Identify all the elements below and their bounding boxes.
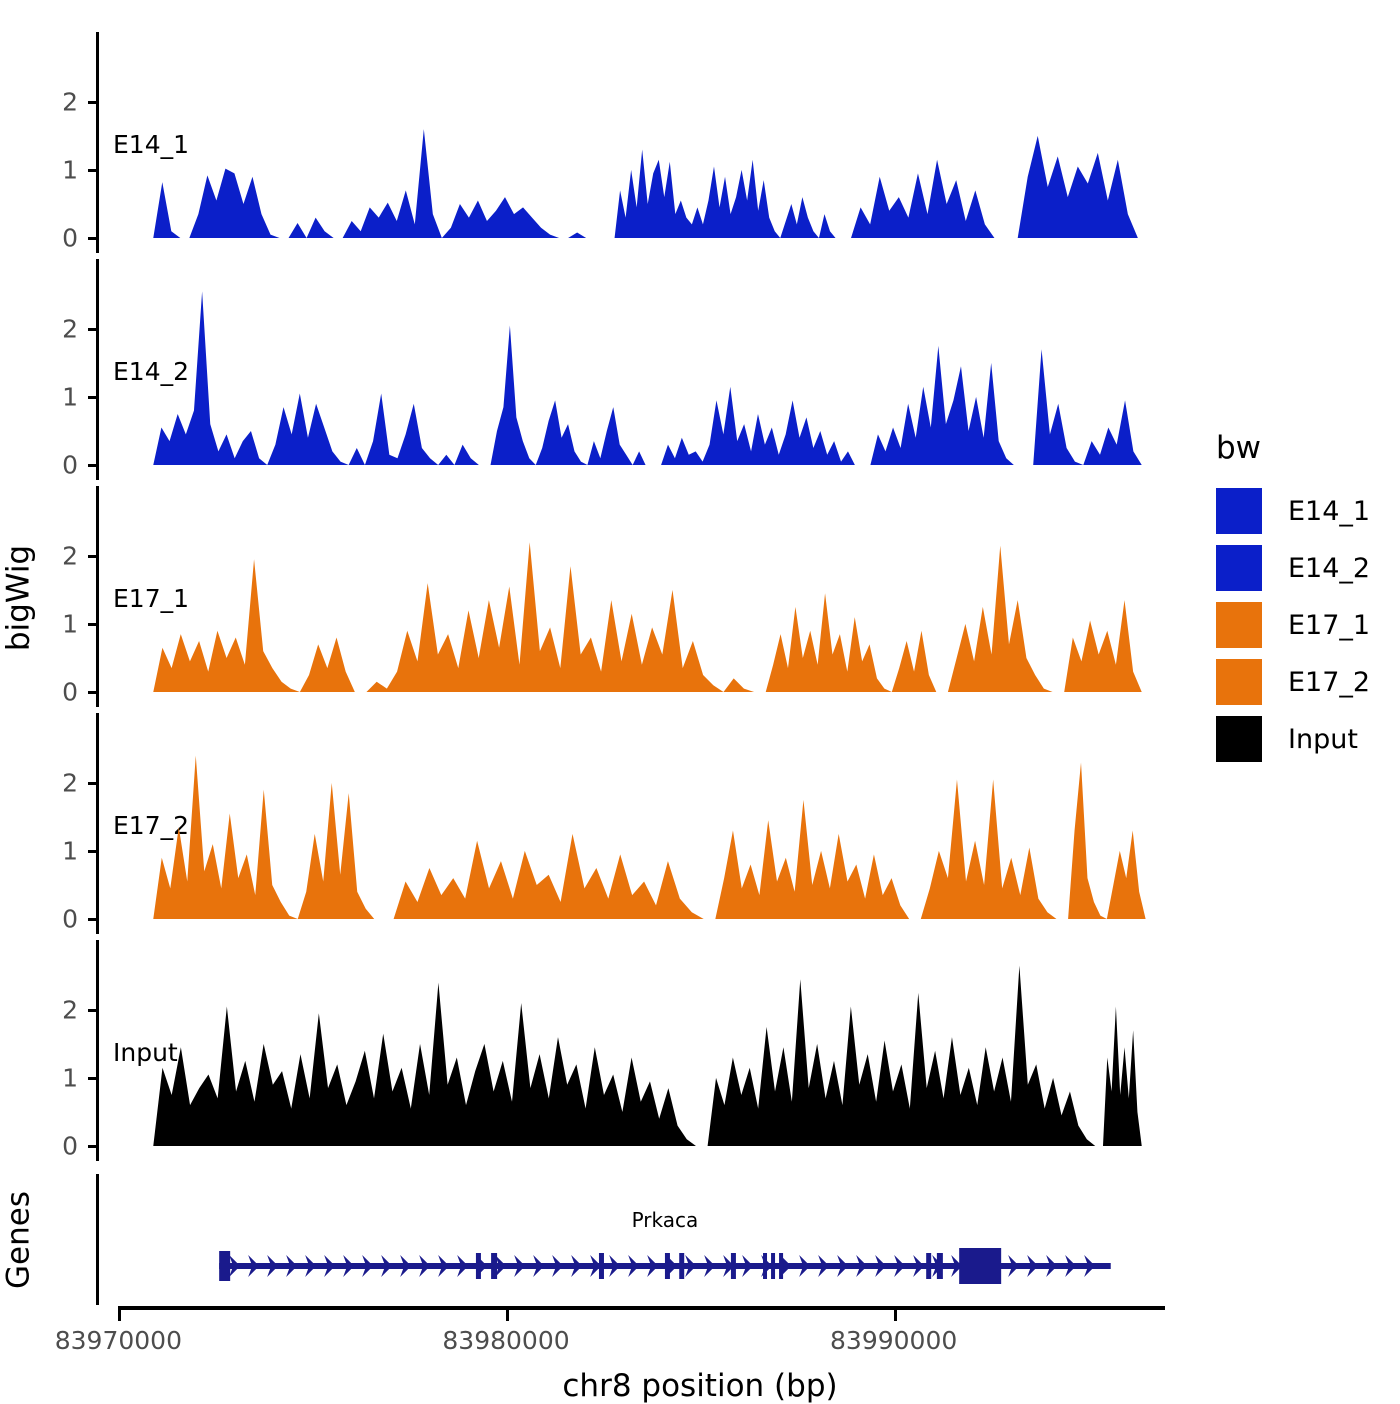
y-tick — [88, 850, 99, 853]
x-tick — [506, 1310, 509, 1321]
y-tick-label: 0 — [18, 678, 78, 707]
y-tick-label: 0 — [18, 451, 78, 480]
signal-segment — [366, 542, 754, 692]
gene-exon-block — [219, 1251, 230, 1281]
y-tick — [88, 555, 99, 558]
track-panel-input: 012Input — [0, 940, 1400, 1167]
signal-segment — [1033, 349, 1142, 465]
y-tick — [88, 623, 99, 626]
signal-area-e14_1 — [99, 32, 1165, 259]
gene-model-area — [99, 1174, 1165, 1309]
signal-area-e14_2 — [99, 259, 1165, 486]
legend-item-e14_2[interactable]: E14_2 — [1216, 545, 1370, 591]
legend-color-swatch — [1216, 488, 1262, 534]
x-axis-line — [118, 1306, 1165, 1310]
signal-segment — [851, 160, 994, 238]
y-tick-label: 2 — [18, 995, 78, 1024]
gene-exon-block — [476, 1253, 481, 1279]
gene-exon-block — [937, 1253, 943, 1279]
track-panel-e14_2: 012E14_2 — [0, 259, 1400, 486]
y-tick-label: 0 — [18, 905, 78, 934]
signal-segment — [153, 983, 696, 1146]
signal-area-e17_1 — [99, 486, 1165, 713]
y-tick — [88, 782, 99, 785]
y-tick-label: 2 — [18, 768, 78, 797]
y-tick — [88, 396, 99, 399]
x-tick — [894, 1310, 897, 1321]
track-panel-e17_2: 012E17_2 — [0, 713, 1400, 940]
gene-exon-block — [599, 1253, 604, 1279]
legend-item-e17_1[interactable]: E17_1 — [1216, 602, 1370, 648]
signal-segment — [153, 559, 355, 692]
legend-color-swatch — [1216, 545, 1262, 591]
y-tick — [88, 101, 99, 104]
track-panel-e14_1: 012E14_1 — [0, 32, 1400, 259]
genes-panel: Prkaca — [0, 1174, 1400, 1309]
y-tick-label: 1 — [18, 836, 78, 865]
signal-segment — [708, 966, 1096, 1146]
y-tick — [88, 328, 99, 331]
signal-segment — [948, 546, 1053, 692]
gene-exon-block — [779, 1253, 783, 1279]
y-tick-label: 1 — [18, 609, 78, 638]
gene-exon-block — [959, 1248, 1001, 1284]
x-tick-label: 83980000 — [442, 1326, 569, 1355]
signal-segment — [1103, 1006, 1142, 1146]
y-tick — [88, 1009, 99, 1012]
x-tick-label: 83970000 — [55, 1326, 182, 1355]
legend-item-e14_1[interactable]: E14_1 — [1216, 488, 1370, 534]
signal-segment — [1018, 136, 1138, 238]
signal-segment — [921, 779, 1057, 919]
y-tick-label: 1 — [18, 155, 78, 184]
y-tick — [88, 237, 99, 240]
legend-item-label: Input — [1288, 724, 1358, 755]
gene-exon-block — [665, 1253, 670, 1279]
signal-segment — [153, 129, 595, 238]
legend-item-input[interactable]: Input — [1216, 716, 1358, 762]
signal-segment — [394, 834, 704, 919]
gene-exon-block — [491, 1253, 497, 1279]
legend-color-swatch — [1216, 659, 1262, 705]
signal-segment — [615, 150, 836, 238]
legend-item-e17_2[interactable]: E17_2 — [1216, 659, 1370, 705]
y-tick-label: 1 — [18, 1063, 78, 1092]
track-panel-e17_1: 012E17_1 — [0, 486, 1400, 713]
y-tick — [88, 464, 99, 467]
y-tick — [88, 1077, 99, 1080]
genome-browser-figure: bigWig Genes 012E14_1012E14_2012E17_1012… — [0, 0, 1400, 1400]
signal-area-input — [99, 940, 1165, 1167]
signal-segment — [870, 346, 1013, 465]
y-tick-label: 0 — [18, 1132, 78, 1161]
y-tick — [88, 918, 99, 921]
y-tick — [88, 1145, 99, 1148]
signal-segment — [766, 593, 937, 692]
y-tick — [88, 691, 99, 694]
signal-segment — [491, 325, 646, 465]
signal-area-e17_2 — [99, 713, 1165, 940]
y-tick-label: 2 — [18, 87, 78, 116]
legend-item-label: E17_1 — [1288, 610, 1370, 641]
legend-color-swatch — [1216, 716, 1262, 762]
legend-color-swatch — [1216, 602, 1262, 648]
gene-exon-block — [926, 1253, 931, 1279]
x-tick — [118, 1310, 121, 1321]
signal-segment — [1068, 762, 1146, 919]
gene-exon-block — [771, 1253, 775, 1279]
signal-segment — [715, 800, 909, 919]
x-axis-title: chr8 position (bp) — [0, 1368, 1400, 1404]
legend-item-label: E14_1 — [1288, 496, 1370, 527]
signal-segment — [153, 291, 479, 465]
y-tick — [88, 169, 99, 172]
y-tick-label: 2 — [18, 314, 78, 343]
y-tick-label: 2 — [18, 541, 78, 570]
legend-item-label: E17_2 — [1288, 667, 1370, 698]
gene-exon-block — [679, 1253, 684, 1279]
legend-item-label: E14_2 — [1288, 553, 1370, 584]
y-tick-label: 0 — [18, 224, 78, 253]
y-tick-label: 1 — [18, 382, 78, 411]
signal-segment — [661, 387, 855, 465]
signal-segment — [1064, 600, 1142, 692]
signal-segment — [153, 756, 374, 919]
gene-exon-block — [763, 1253, 767, 1279]
legend-title: bw — [1216, 430, 1261, 466]
x-tick-label: 83990000 — [830, 1326, 957, 1355]
gene-exon-block — [731, 1253, 736, 1279]
